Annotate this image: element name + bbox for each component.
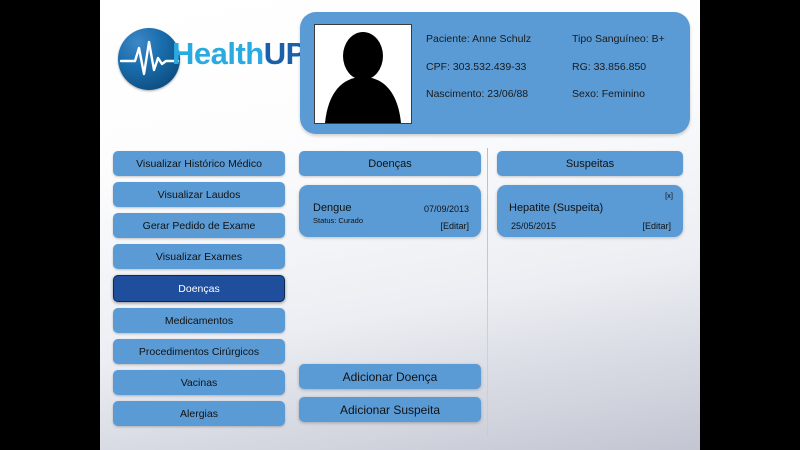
avatar [314,24,412,124]
doenca-date: 07/09/2013 [424,204,469,214]
heartbeat-circle-icon [118,28,180,90]
patient-info-left: Paciente: Anne Schulz CPF: 303.532.439-3… [426,34,531,117]
patient-cpf-row: CPF: 303.532.439-33 [426,62,531,73]
patient-info-right: Tipo Sanguíneo: B+ RG: 33.856.850 Sexo: … [572,34,665,117]
suspeita-close-icon[interactable]: [x] [665,191,673,200]
suspeita-edit-link[interactable]: [Editar] [642,221,671,231]
logo-text-health: Health [172,36,264,71]
sidebar-item-historico-medico[interactable]: Visualizar Histórico Médico [113,151,285,176]
suspeita-card[interactable]: [x] Hepatite (Suspeita) 25/05/2015 [Edit… [497,185,683,237]
doencas-column-title: Doenças [299,151,481,176]
patient-header-panel: Paciente: Anne Schulz CPF: 303.532.439-3… [300,12,690,134]
suspeita-name: Hepatite (Suspeita) [509,202,603,214]
doenca-name: Dengue [313,202,352,214]
doenca-status: Status: Curado [313,216,363,225]
patient-name-row: Paciente: Anne Schulz [426,34,531,45]
suspeitas-column-title: Suspeitas [497,151,683,176]
patient-birth-row: Nascimento: 23/06/88 [426,89,531,100]
doenca-card[interactable]: Dengue Status: Curado 07/09/2013 [Editar… [299,185,481,237]
add-suspicion-button[interactable]: Adicionar Suspeita [299,397,481,422]
sidebar-item-visualizar-exames[interactable]: Visualizar Exames [113,244,285,269]
sidebar-item-procedimentos-cirurgicos[interactable]: Procedimentos Cirúrgicos [113,339,285,364]
add-disease-button[interactable]: Adicionar Doença [299,364,481,389]
suspeita-date: 25/05/2015 [511,221,556,231]
sidebar-item-alergias[interactable]: Alergias [113,401,285,426]
logo-wordmark: HealthUP [172,36,306,72]
sidebar-item-pedido-exame[interactable]: Gerar Pedido de Exame [113,213,285,238]
sidebar-item-medicamentos[interactable]: Medicamentos [113,308,285,333]
app-logo: HealthUP [110,28,320,98]
column-divider [487,148,488,436]
sidebar-item-doencas[interactable]: Doenças [113,275,285,302]
sidebar-item-laudos[interactable]: Visualizar Laudos [113,182,285,207]
sidebar-menu: Visualizar Histórico Médico Visualizar L… [113,151,285,432]
patient-blood-row: Tipo Sanguíneo: B+ [572,34,665,45]
doenca-edit-link[interactable]: [Editar] [440,221,469,231]
doencas-column: Doenças Dengue Status: Curado 07/09/2013… [299,151,481,237]
letterbox-right [700,0,800,450]
suspeitas-column: Suspeitas [x] Hepatite (Suspeita) 25/05/… [497,151,683,237]
sidebar-item-vacinas[interactable]: Vacinas [113,370,285,395]
action-buttons: Adicionar Doença Adicionar Suspeita [299,364,481,430]
app-screen: HealthUP Paciente: Anne Schulz CPF: 303.… [0,0,800,450]
letterbox-left [0,0,100,450]
patient-rg-row: RG: 33.856.850 [572,62,665,73]
app-canvas: HealthUP Paciente: Anne Schulz CPF: 303.… [100,0,700,450]
patient-sex-row: Sexo: Feminino [572,89,665,100]
